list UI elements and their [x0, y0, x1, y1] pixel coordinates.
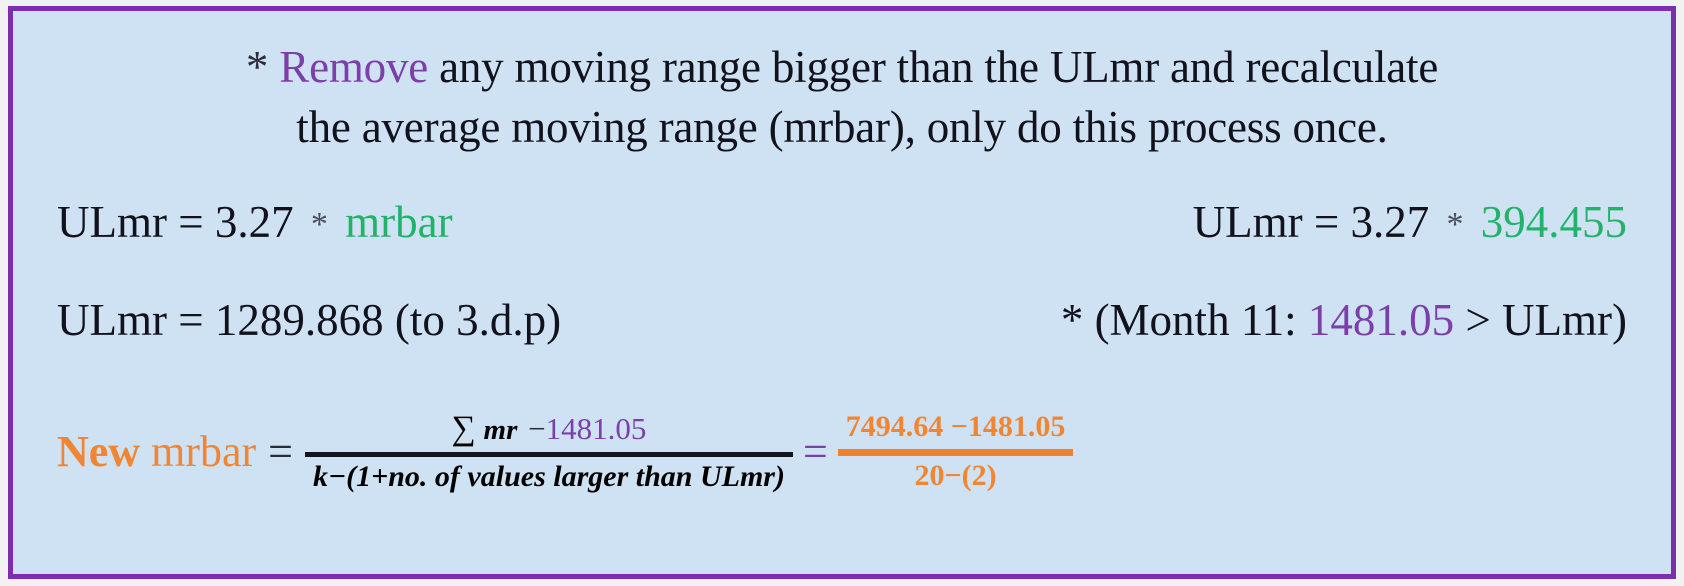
ulmr-label-left: ULmr [57, 197, 167, 247]
slide-canvas: * Remove any moving range bigger than th… [0, 0, 1684, 586]
ulmr-result: ULmr = 1289.868 (to 3.d.p) [13, 294, 561, 346]
formula-equals-1: = [256, 430, 305, 474]
outlier-month-label: (Month 11: [1095, 295, 1297, 345]
fraction-bar [305, 452, 793, 457]
equation-row-ulmr-result: ULmr = 1289.868 (to 3.d.p) * (Month 11: … [13, 294, 1671, 346]
fraction-bar [838, 449, 1074, 456]
ulmr-label-result: ULmr [57, 295, 167, 345]
equals-right: = [1314, 197, 1339, 247]
outlier-comparison: > ULmr) [1465, 295, 1627, 345]
content-panel: * Remove any moving range bigger than th… [8, 6, 1676, 579]
constant-left: 3.27 [215, 197, 294, 247]
summation-icon: ∑ [452, 410, 476, 447]
formula-lhs: New mrbar [57, 430, 256, 474]
ulmr-label-right: ULmr [1193, 197, 1303, 247]
multiply-icon: * [305, 206, 334, 243]
outlier-value: 1481.05 [1308, 295, 1454, 345]
formula-equals-2: = [793, 430, 838, 474]
operand-mrbar-value: 394.455 [1481, 197, 1627, 247]
constant-right: 3.27 [1351, 197, 1430, 247]
intro-line-2: the average moving range (mrbar), only d… [13, 97, 1671, 157]
note-asterisk: * [1061, 295, 1084, 345]
numerator-variable: mr [484, 414, 518, 446]
keyword-remove: Remove [279, 42, 428, 92]
ulmr-numeric-equation: ULmr = 3.27 * 394.455 [1193, 196, 1671, 248]
numerator-minus-icon: − [525, 411, 545, 446]
intro-paragraph: * Remove any moving range bigger than th… [13, 37, 1671, 157]
intro-line-1: * Remove any moving range bigger than th… [13, 37, 1671, 97]
fraction-symbolic-denominator: k−(1+no. of values larger than ULmr) [305, 460, 793, 495]
outlier-note: * (Month 11: 1481.05 > ULmr) [1061, 294, 1671, 346]
new-mrbar-formula: New mrbar = ∑ mr −1481.05 k−(1+no. of va… [57, 409, 1641, 495]
formula-lhs-mrbar: mrbar [151, 427, 256, 476]
bullet-asterisk: * [246, 42, 268, 92]
numerator-outlier-value: 1481.05 [546, 411, 647, 446]
multiply-icon: * [1441, 206, 1470, 243]
intro-line-1-text: any moving range bigger than the ULmr an… [439, 42, 1438, 92]
formula-lhs-new: New [57, 427, 140, 476]
fraction-numeric-denominator: 20−(2) [907, 459, 1005, 494]
equals-left: = [178, 197, 203, 247]
fraction-numeric-numerator: 7494.64 −1481.05 [838, 410, 1074, 445]
operand-mrbar: mrbar [345, 197, 452, 247]
fraction-numeric: 7494.64 −1481.05 20−(2) [838, 410, 1074, 493]
ulmr-value: 1289.868 [215, 295, 384, 345]
fraction-symbolic-numerator: ∑ mr −1481.05 [444, 409, 655, 448]
equation-row-ulmr-definition: ULmr = 3.27 * mrbar ULmr = 3.27 * 394.45… [13, 196, 1671, 248]
equals-result: = [178, 295, 203, 345]
ulmr-symbolic-equation: ULmr = 3.27 * mrbar [13, 196, 453, 248]
fraction-symbolic: ∑ mr −1481.05 k−(1+no. of values larger … [305, 409, 793, 495]
precision-note: (to 3.d.p) [395, 295, 561, 345]
